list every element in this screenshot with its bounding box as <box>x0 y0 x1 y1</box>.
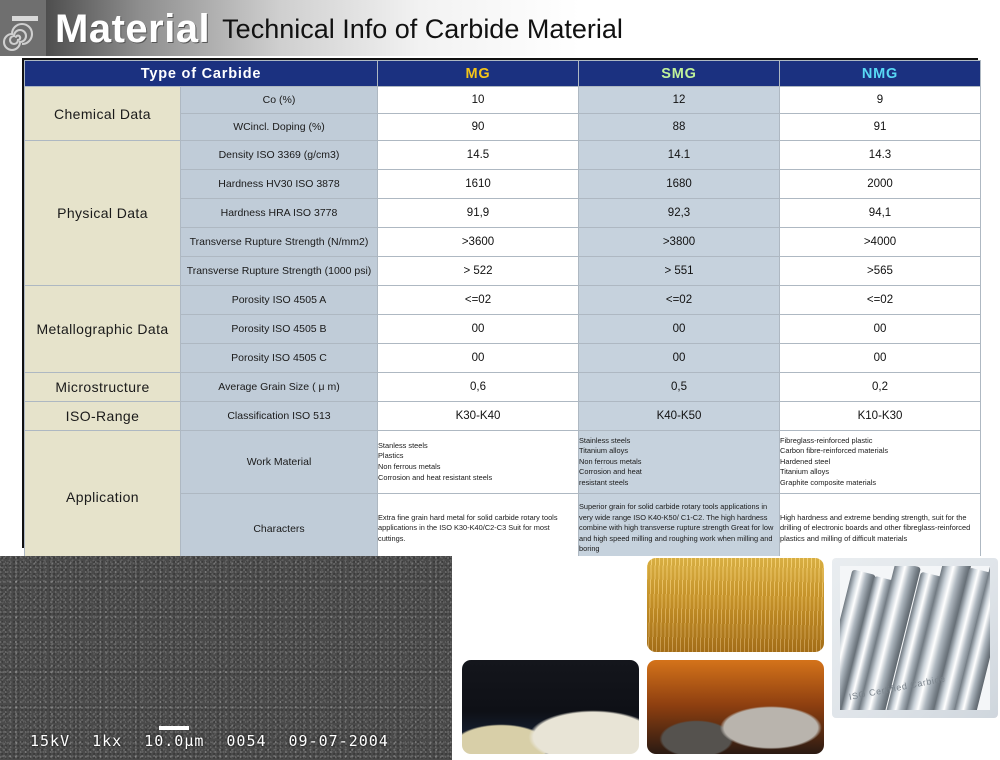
ore-pile-photo <box>462 558 639 652</box>
sem-voltage: 15kV <box>30 732 70 750</box>
category-physical-data: Physical Data <box>25 141 181 286</box>
work-material-nmg: Fibreglass-reinforced plastic Carbon fib… <box>780 431 981 494</box>
work-material-list-nmg: Fibreglass-reinforced plastic Carbon fib… <box>780 436 980 489</box>
value-smg: 0,5 <box>579 373 780 402</box>
list-item: Fibreglass-reinforced plastic <box>780 436 980 447</box>
sem-caption: 15kV 1kx 10.0μm 0054 09-07-2004 <box>0 726 452 750</box>
property-label: Density ISO 3369 (g/cm3) <box>181 141 378 170</box>
carbide-spec-table: Type of Carbide MG SMG NMG Chemical Data… <box>24 60 981 564</box>
scale-bar-icon <box>159 726 189 730</box>
work-material-list-smg: Stainless steels Titanium alloys Non fer… <box>579 436 779 489</box>
page-subtitle: Technical Info of Carbide Material <box>222 6 623 52</box>
value-smg: 12 <box>579 87 780 114</box>
material-spec-page: Material Technical Info of Carbide Mater… <box>0 0 1000 760</box>
rods-inner: ISO Certified Carbide <box>840 566 990 710</box>
value-mg: 0,6 <box>378 373 579 402</box>
list-item: Hardened steel <box>780 457 980 468</box>
table-row: ISO-Range Classification ISO 513 K30-K40… <box>25 402 981 431</box>
list-item: Titanium alloys <box>579 446 779 457</box>
rock-fragment-photo <box>647 660 824 754</box>
value-mg: <=02 <box>378 286 579 315</box>
list-item: Graphite composite materials <box>780 478 980 489</box>
list-item: Stanless steels <box>378 441 578 452</box>
value-nmg: 91 <box>780 114 981 141</box>
table-row: Application Work Material Stanless steel… <box>25 431 981 494</box>
value-smg: >3800 <box>579 228 780 257</box>
material-photo-grid <box>462 558 824 754</box>
value-mg: 90 <box>378 114 579 141</box>
list-item: Carbon fibre-reinforced materials <box>780 446 980 457</box>
value-mg: 14.5 <box>378 141 579 170</box>
value-mg: >3600 <box>378 228 579 257</box>
page-header: Material Technical Info of Carbide Mater… <box>0 0 1000 56</box>
characters-mg: Extra fine grain hard metal for solid ca… <box>378 494 579 564</box>
list-item: Titanium alloys <box>780 467 980 478</box>
header-type-of-carbide: Type of Carbide <box>25 61 378 87</box>
category-metallographic-data: Metallographic Data <box>25 286 181 373</box>
property-label: Porosity ISO 4505 C <box>181 344 378 373</box>
carbide-rods-photo: ISO Certified Carbide <box>832 558 998 718</box>
table-row: Physical Data Density ISO 3369 (g/cm3) 1… <box>25 141 981 170</box>
value-nmg: 14.3 <box>780 141 981 170</box>
value-nmg: <=02 <box>780 286 981 315</box>
value-smg: 00 <box>579 344 780 373</box>
work-material-smg: Stainless steels Titanium alloys Non fer… <box>579 431 780 494</box>
property-label: Transverse Rupture Strength (1000 psi) <box>181 257 378 286</box>
category-iso-range: ISO-Range <box>25 402 181 431</box>
property-label: Porosity ISO 4505 B <box>181 315 378 344</box>
sem-frame-number: 0054 <box>226 732 266 750</box>
work-material-mg: Stanless steels Plastics Non ferrous met… <box>378 431 579 494</box>
characters-text-nmg: High hardness and extreme bending streng… <box>780 513 980 545</box>
sem-scale: 10.0μm <box>144 732 204 750</box>
property-label: Average Grain Size ( μ m) <box>181 373 378 402</box>
value-nmg: 0,2 <box>780 373 981 402</box>
value-mg: > 522 <box>378 257 579 286</box>
spiral-coil-icon <box>0 0 46 56</box>
table-row: Chemical Data Co (%) 10 12 9 <box>25 87 981 114</box>
table-row: Microstructure Average Grain Size ( μ m)… <box>25 373 981 402</box>
value-nmg: 94,1 <box>780 199 981 228</box>
value-smg: <=02 <box>579 286 780 315</box>
list-item: Corrosion and heat resistant steels <box>378 473 578 484</box>
header-mg: MG <box>378 61 579 87</box>
property-label: Hardness HV30 ISO 3878 <box>181 170 378 199</box>
list-item: Stainless steels <box>579 436 779 447</box>
sem-micrograph-image: 15kV 1kx 10.0μm 0054 09-07-2004 <box>0 556 452 760</box>
value-smg: 00 <box>579 315 780 344</box>
characters-smg: Superior grain for solid carbide rotary … <box>579 494 780 564</box>
list-item: Non ferrous metals <box>378 462 578 473</box>
property-label: Porosity ISO 4505 A <box>181 286 378 315</box>
value-smg: 92,3 <box>579 199 780 228</box>
value-smg: 14.1 <box>579 141 780 170</box>
value-nmg: 00 <box>780 344 981 373</box>
property-label: Co (%) <box>181 87 378 114</box>
header-smg: SMG <box>579 61 780 87</box>
value-smg: K40-K50 <box>579 402 780 431</box>
value-mg: K30-K40 <box>378 402 579 431</box>
property-characters: Characters <box>181 494 378 564</box>
list-item: Corrosion and heat <box>579 467 779 478</box>
property-label: Hardness HRA ISO 3778 <box>181 199 378 228</box>
work-material-list-mg: Stanless steels Plastics Non ferrous met… <box>378 441 578 483</box>
characters-nmg: High hardness and extreme bending streng… <box>780 494 981 564</box>
category-application: Application <box>25 431 181 564</box>
header-nmg: NMG <box>780 61 981 87</box>
value-nmg: 9 <box>780 87 981 114</box>
property-label: Transverse Rupture Strength (N/mm2) <box>181 228 378 257</box>
property-label: WCincl. Doping (%) <box>181 114 378 141</box>
value-mg: 10 <box>378 87 579 114</box>
value-mg: 00 <box>378 344 579 373</box>
value-nmg: K10-K30 <box>780 402 981 431</box>
list-item: Plastics <box>378 451 578 462</box>
characters-text-mg: Extra fine grain hard metal for solid ca… <box>378 513 578 545</box>
value-nmg: 2000 <box>780 170 981 199</box>
list-item: Non ferrous metals <box>579 457 779 468</box>
value-mg: 00 <box>378 315 579 344</box>
value-mg: 1610 <box>378 170 579 199</box>
value-nmg: 00 <box>780 315 981 344</box>
sem-magnification: 1kx <box>92 732 122 750</box>
category-chemical-data: Chemical Data <box>25 87 181 141</box>
gold-texture-photo <box>647 558 824 652</box>
powder-pile-photo <box>462 660 639 754</box>
value-mg: 91,9 <box>378 199 579 228</box>
title-block: Material Technical Info of Carbide Mater… <box>55 6 623 52</box>
value-smg: > 551 <box>579 257 780 286</box>
spec-table-container: Type of Carbide MG SMG NMG Chemical Data… <box>22 58 978 548</box>
value-nmg: >4000 <box>780 228 981 257</box>
category-microstructure: Microstructure <box>25 373 181 402</box>
sem-scale-group: 10.0μm <box>144 726 204 750</box>
value-smg: 1680 <box>579 170 780 199</box>
value-smg: 88 <box>579 114 780 141</box>
property-work-material: Work Material <box>181 431 378 494</box>
page-title: Material <box>55 6 210 52</box>
table-header-row: Type of Carbide MG SMG NMG <box>25 61 981 87</box>
list-item: resistant steels <box>579 478 779 489</box>
characters-text-smg: Superior grain for solid carbide rotary … <box>579 502 779 555</box>
value-nmg: >565 <box>780 257 981 286</box>
property-label: Classification ISO 513 <box>181 402 378 431</box>
sem-date: 09-07-2004 <box>289 732 389 750</box>
gallery-section: 15kV 1kx 10.0μm 0054 09-07-2004 <box>0 556 1000 760</box>
table-row: Metallographic Data Porosity ISO 4505 A … <box>25 286 981 315</box>
